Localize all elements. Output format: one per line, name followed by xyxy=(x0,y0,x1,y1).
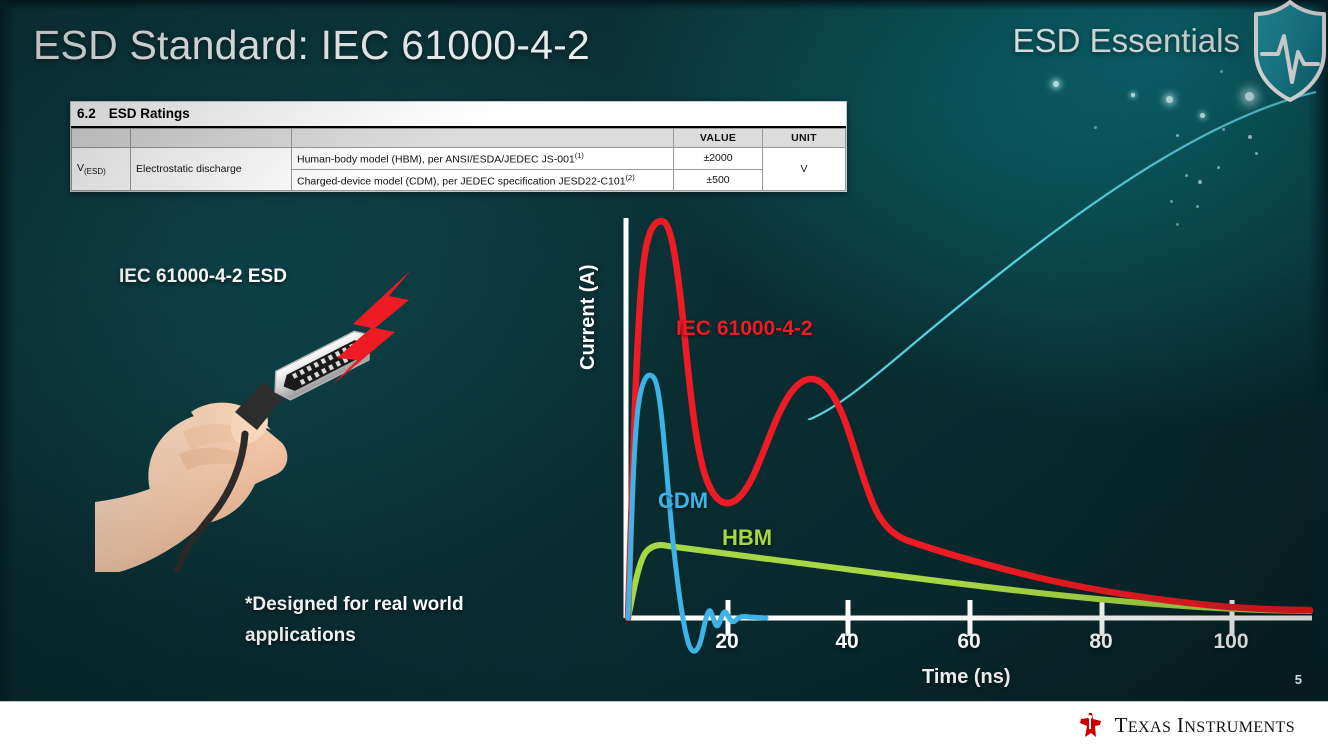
vignette-overlay xyxy=(0,0,1328,746)
ti-texas-icon xyxy=(1076,710,1106,740)
ti-wordmark: TEXAS INSTRUMENTS xyxy=(1115,713,1295,738)
slide-canvas: ESD Standard: IEC 61000-4-2 ESD Essentia… xyxy=(0,0,1328,746)
footer-bar: TEXAS INSTRUMENTS xyxy=(0,701,1328,746)
page-number: 5 xyxy=(1295,672,1302,687)
texas-instruments-logo: TEXAS INSTRUMENTS xyxy=(1076,710,1295,740)
